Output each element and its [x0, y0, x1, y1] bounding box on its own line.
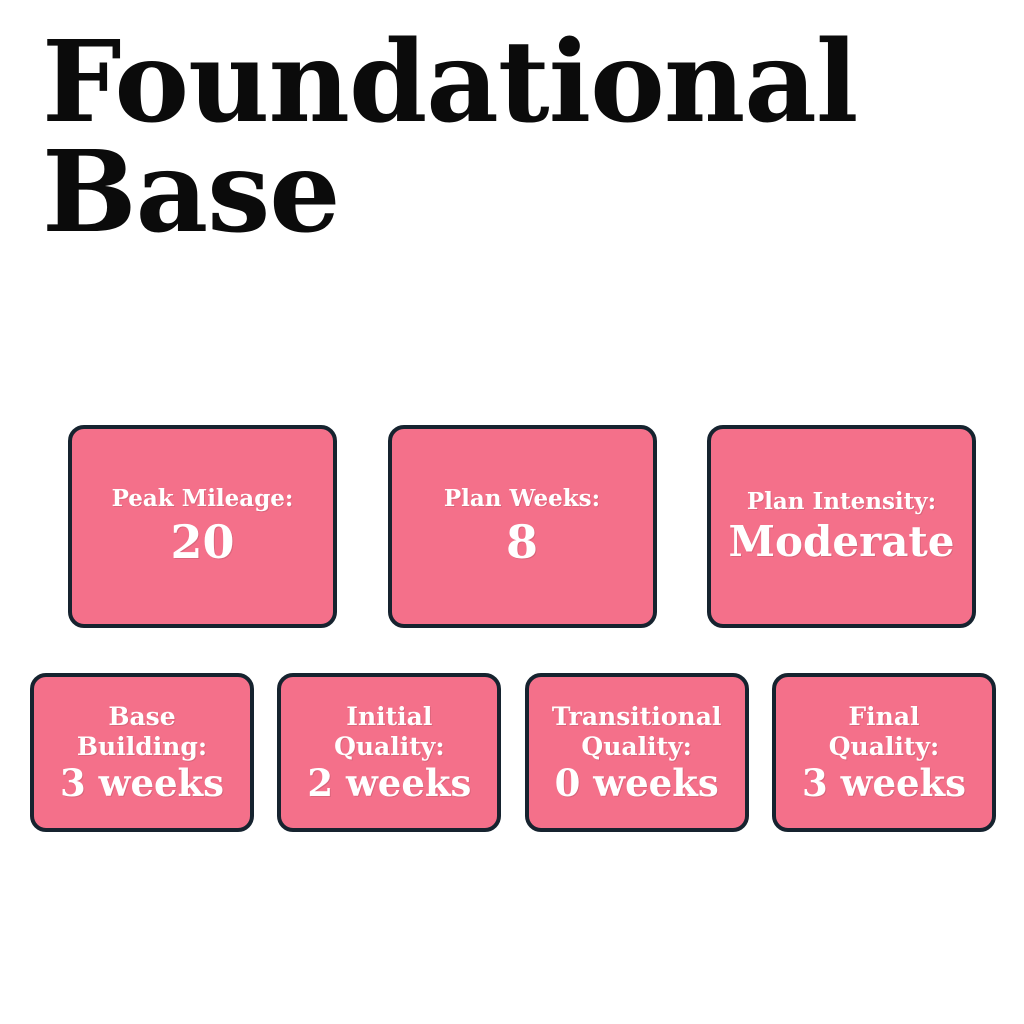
stat-card-label: Plan Weeks:	[444, 486, 600, 512]
stat-card-peak-mileage[interactable]: Peak Mileage: 20	[68, 425, 337, 628]
stat-card-plan-weeks[interactable]: Plan Weeks: 8	[388, 425, 657, 628]
infographic-canvas: Foundational Base Peak Mileage: 20 Plan …	[0, 0, 1024, 1024]
stat-card-value: Moderate	[728, 520, 954, 564]
stat-card-final-quality[interactable]: Final Quality: 3 weeks	[772, 673, 996, 832]
stat-card-initial-quality[interactable]: Initial Quality: 2 weeks	[277, 673, 501, 832]
stat-card-label: Plan Intensity:	[747, 489, 936, 515]
stat-card-label: Initial Quality:	[334, 702, 444, 761]
primary-stats-row: Peak Mileage: 20 Plan Weeks: 8 Plan Inte…	[68, 425, 976, 628]
stat-card-value: 3 weeks	[802, 764, 966, 803]
phase-stats-row: Base Building: 3 weeks Initial Quality: …	[30, 673, 996, 832]
stat-card-label: Base Building:	[77, 702, 207, 761]
stat-card-label: Final Quality:	[829, 702, 939, 761]
stat-card-value: 20	[170, 518, 234, 566]
stat-card-plan-intensity[interactable]: Plan Intensity: Moderate	[707, 425, 976, 628]
stat-card-base-building[interactable]: Base Building: 3 weeks	[30, 673, 254, 832]
page-title: Foundational Base	[42, 28, 942, 248]
stat-card-value: 8	[506, 518, 538, 566]
stat-card-value: 0 weeks	[555, 764, 719, 803]
stat-card-label: Transitional Quality:	[552, 702, 722, 761]
stat-card-value: 2 weeks	[307, 764, 471, 803]
stat-card-value: 3 weeks	[60, 764, 224, 803]
stat-card-transitional-quality[interactable]: Transitional Quality: 0 weeks	[525, 673, 749, 832]
stat-card-label: Peak Mileage:	[112, 486, 294, 512]
